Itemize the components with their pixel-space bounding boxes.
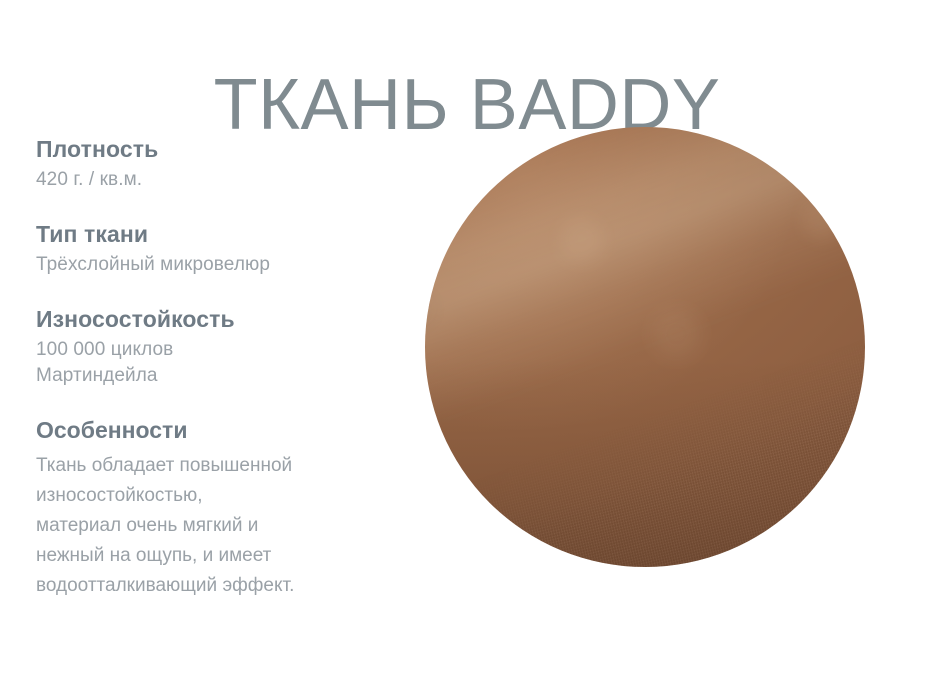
spec-value-line: 420 г. / кв.м. [36,167,396,193]
spec-value-fabric-type: Трёхслойный микровелюр [36,252,396,278]
spec-label-density: Плотность [36,134,396,164]
spec-value-line: Трёхслойный микровелюр [36,252,396,278]
fabric-swatch-photo [425,127,865,567]
spec-label-features: Особенности [36,415,396,445]
specifications-list: Плотность 420 г. / кв.м. Тип ткани Трёхс… [36,134,396,601]
features-line: износостойкостью, [36,481,396,511]
spec-value-line: Мартиндейла [36,363,396,389]
spec-item-fabric-type: Тип ткани Трёхслойный микровелюр [36,219,396,278]
spec-value-durability: 100 000 циклов Мартиндейла [36,337,396,389]
spec-item-density: Плотность 420 г. / кв.м. [36,134,396,193]
spec-item-features: Особенности Ткань обладает повышенной из… [36,415,396,601]
fabric-vignette [425,127,865,567]
features-line: материал очень мягкий и [36,511,396,541]
features-description: Ткань обладает повышенной износостойкост… [36,451,396,601]
spec-item-durability: Износостойкость 100 000 циклов Мартиндей… [36,304,396,389]
features-line: Ткань обладает повышенной [36,451,396,481]
features-line: нежный на ощупь, и имеет [36,541,396,571]
spec-label-durability: Износостойкость [36,304,396,334]
spec-label-fabric-type: Тип ткани [36,219,396,249]
fabric-texture [425,127,865,567]
features-line: водоотталкивающий эффект. [36,571,396,601]
spec-value-line: 100 000 циклов [36,337,396,363]
fabric-spec-slide: ТКАНЬ BADDY Плотность 420 г. / кв.м. Тип… [0,0,934,700]
spec-value-density: 420 г. / кв.м. [36,167,396,193]
